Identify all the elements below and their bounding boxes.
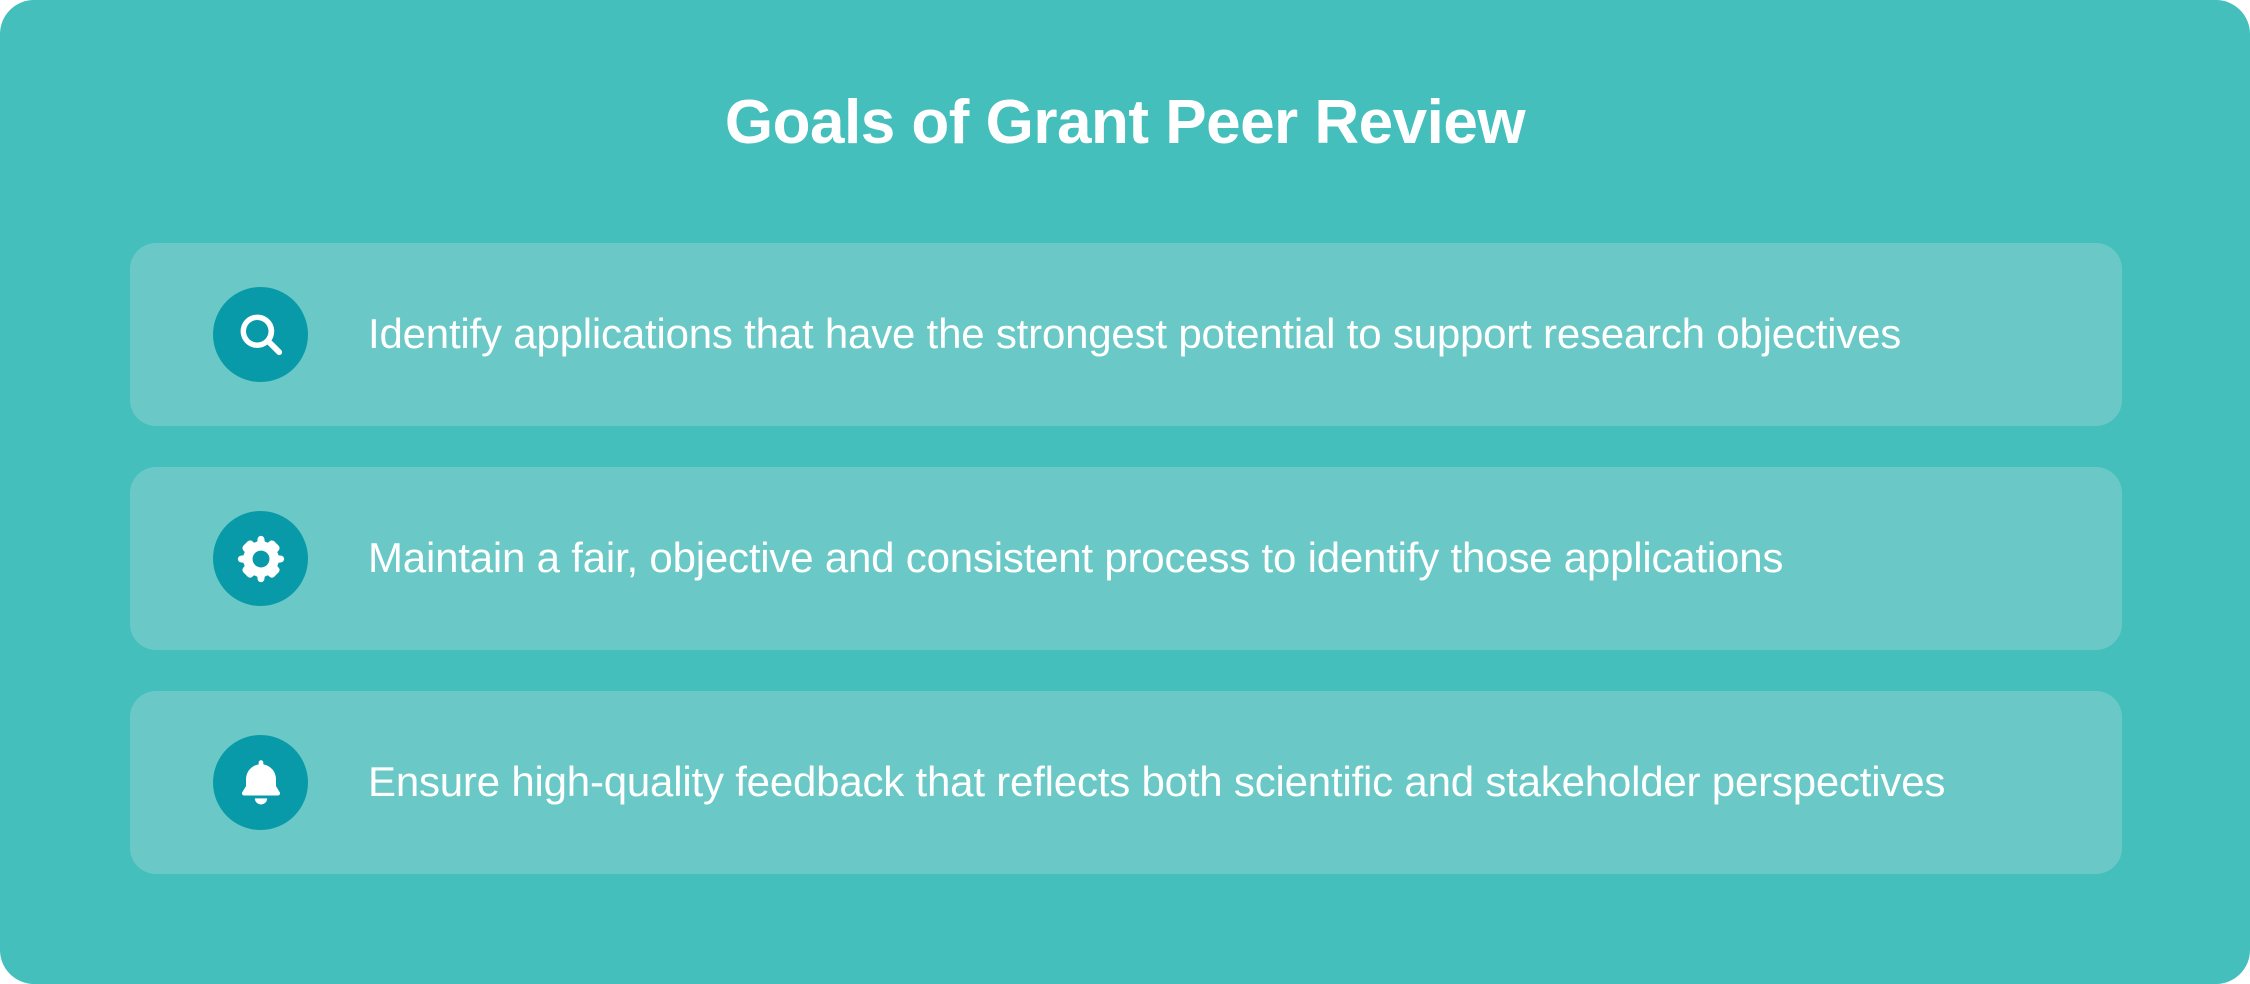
- search-icon: [213, 287, 308, 382]
- goal-card-identify: Identify applications that have the stro…: [130, 243, 2122, 426]
- goal-card-ensure: Ensure high-quality feedback that reflec…: [130, 691, 2122, 874]
- goal-text: Ensure high-quality feedback that reflec…: [368, 756, 1945, 809]
- goal-text: Identify applications that have the stro…: [368, 308, 1901, 361]
- page-title: Goals of Grant Peer Review: [0, 92, 2250, 154]
- goals-panel: Goals of Grant Peer Review Identify appl…: [0, 0, 2250, 984]
- goal-card-maintain: Maintain a fair, objective and consisten…: [130, 467, 2122, 650]
- bell-icon: [213, 735, 308, 830]
- gear-icon: [213, 511, 308, 606]
- goal-text: Maintain a fair, objective and consisten…: [368, 532, 1783, 585]
- goals-list: Identify applications that have the stro…: [130, 243, 2122, 874]
